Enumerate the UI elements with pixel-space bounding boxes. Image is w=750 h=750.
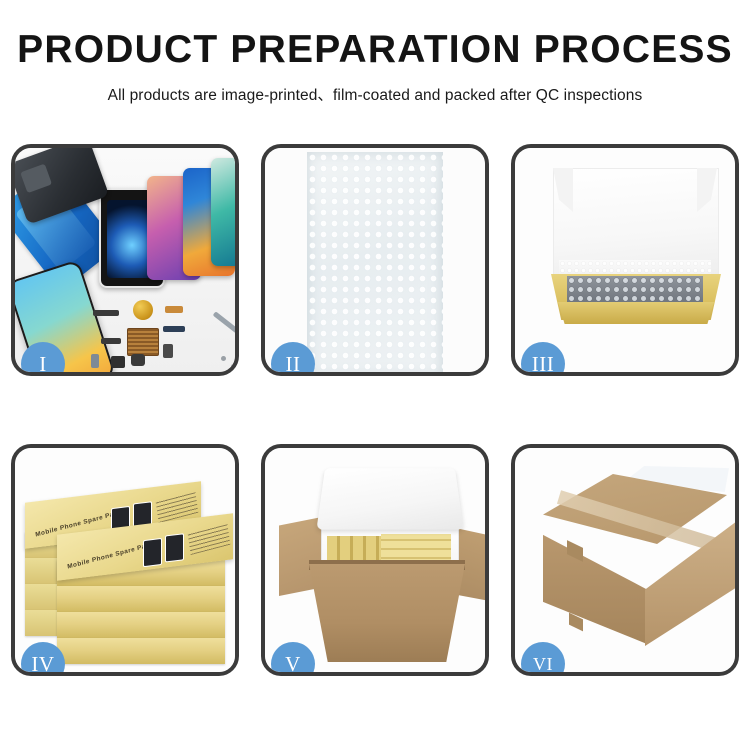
step-cell-1: I bbox=[0, 140, 250, 380]
grid-gap-3 bbox=[500, 380, 750, 440]
screw-part-1 bbox=[221, 356, 226, 361]
step-cell-5: V bbox=[250, 440, 500, 680]
bubble-wrap-bag bbox=[307, 152, 443, 372]
step-panel-4[interactable]: Mobile Phone Spare Parts Mobile Phone Sp… bbox=[11, 444, 239, 676]
camera-module-part bbox=[111, 356, 125, 368]
step-image-4: Mobile Phone Spare Parts Mobile Phone Sp… bbox=[15, 448, 235, 672]
header: PRODUCT PREPARATION PROCESS All products… bbox=[0, 0, 750, 105]
step-panel-1[interactable]: I bbox=[11, 144, 239, 376]
retail-box-front-2 bbox=[57, 638, 225, 664]
step-cell-3: III bbox=[500, 140, 750, 380]
step-cell-4: Mobile Phone Spare Parts Mobile Phone Sp… bbox=[0, 440, 250, 680]
process-grid: I II bbox=[0, 140, 750, 680]
vibrator-part bbox=[131, 354, 145, 366]
retail-box-spec-lines-front bbox=[188, 523, 231, 555]
step-cell-6: VI bbox=[500, 440, 750, 680]
page-subtitle: All products are image-printed、film-coat… bbox=[0, 83, 750, 105]
grid-gap-2 bbox=[250, 380, 500, 440]
carton-left-face bbox=[543, 520, 647, 644]
retail-box-image-4 bbox=[165, 533, 184, 562]
step-panel-3[interactable]: III bbox=[511, 144, 739, 376]
flex-cable-part-1 bbox=[165, 306, 183, 313]
sim-tray-part bbox=[91, 354, 99, 368]
phone-screen-teal bbox=[211, 158, 235, 266]
poster: PRODUCT PREPARATION PROCESS All products… bbox=[0, 0, 750, 750]
step-image-3 bbox=[515, 148, 735, 372]
step-cell-2: II bbox=[250, 140, 500, 380]
step-panel-6[interactable]: VI bbox=[511, 444, 739, 676]
bubble-wrap-filler bbox=[567, 276, 703, 304]
step-image-1 bbox=[15, 148, 235, 372]
grid-gap-1 bbox=[0, 380, 250, 440]
screw-part-2 bbox=[231, 364, 235, 369]
step-image-5 bbox=[265, 448, 485, 672]
step-image-6 bbox=[515, 448, 735, 672]
speaker-part bbox=[133, 300, 153, 320]
retail-box-front-4 bbox=[57, 586, 225, 612]
step-panel-5[interactable]: V bbox=[261, 444, 489, 676]
page-title: PRODUCT PREPARATION PROCESS bbox=[0, 30, 750, 71]
gold-box-front bbox=[553, 302, 719, 324]
ic-chip-part bbox=[127, 328, 159, 356]
step-panel-2[interactable]: II bbox=[261, 144, 489, 376]
retail-box-image-3 bbox=[143, 538, 162, 567]
retail-box-front-3 bbox=[57, 612, 225, 638]
step-image-2 bbox=[265, 148, 485, 372]
antenna-strip-part bbox=[93, 310, 119, 316]
carton-body bbox=[309, 564, 465, 662]
flex-cable-part-3 bbox=[101, 338, 121, 344]
foam-lid bbox=[316, 468, 463, 529]
flex-cable-part-2 bbox=[163, 326, 185, 332]
battery-connector-part bbox=[163, 344, 173, 358]
tweezers-tool bbox=[213, 311, 235, 333]
